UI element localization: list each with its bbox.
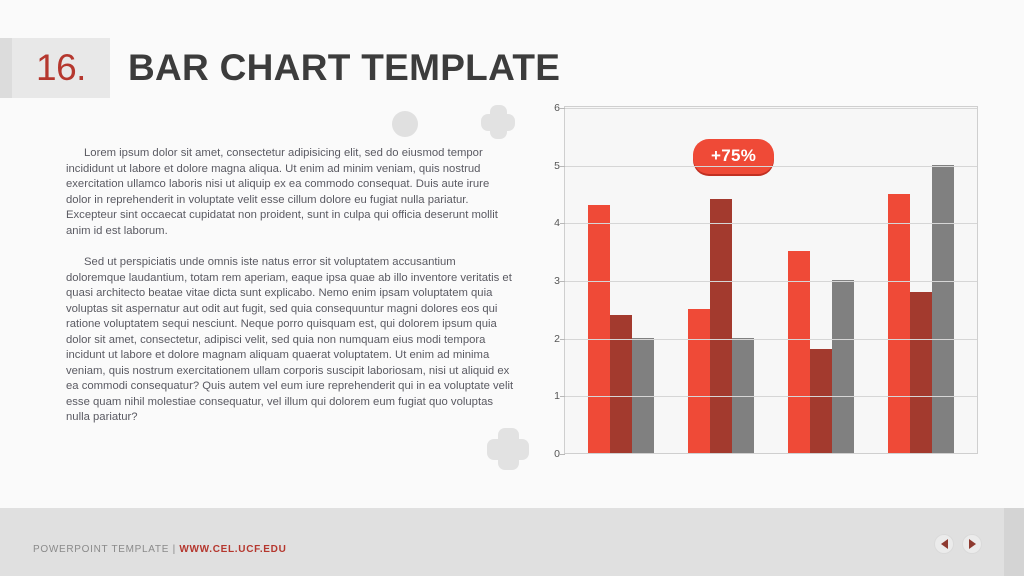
decorative-circle [392,111,418,137]
slide-canvas: 16. BAR CHART TEMPLATE Lorem ipsum dolor… [0,0,1024,576]
y-axis-tick-label: 3 [538,275,560,287]
bar [932,165,954,453]
gridline [565,396,977,397]
bar [810,349,832,453]
slide-title: BAR CHART TEMPLATE [128,47,560,89]
axis-tick-mark [560,166,565,167]
axis-tick-mark [560,281,565,282]
footer-text: POWERPOINT TEMPLATE | WWW.CEL.UCF.EDU [33,544,287,555]
paragraph-2: Sed ut perspiciatis unde omnis iste natu… [66,255,516,426]
triangle-left-icon [941,539,948,549]
gridline [565,339,977,340]
slide-number: 16. [36,47,86,89]
axis-tick-mark [560,223,565,224]
bar [910,292,932,453]
y-axis-tick-label: 4 [538,217,560,229]
y-axis-tick-label: 5 [538,160,560,172]
plot-area: +75% [564,106,978,454]
bar [588,205,610,453]
body-text: Lorem ipsum dolor sit amet, consectetur … [66,146,516,426]
footer-edge-strip [1004,508,1024,576]
decorative-plus-top [481,105,515,139]
status-badge: +75% [693,139,774,174]
bar [710,199,732,453]
bar-group [588,107,654,453]
axis-tick-mark [560,339,565,340]
nav-prev-button[interactable] [934,534,954,554]
gridline [565,281,977,282]
bar [688,309,710,453]
axis-tick-mark [560,396,565,397]
y-axis-tick-label: 6 [538,102,560,114]
y-axis: 0123456 [538,106,560,454]
bar [888,194,910,454]
decorative-plus-bottom [487,428,529,470]
bar [732,338,754,453]
footer-label: POWERPOINT TEMPLATE | [33,544,176,555]
y-axis-tick-label: 0 [538,448,560,460]
axis-tick-mark [560,454,565,455]
footer-bar: POWERPOINT TEMPLATE | WWW.CEL.UCF.EDU [0,508,1024,576]
gridline [565,108,977,109]
y-axis-tick-label: 2 [538,333,560,345]
bar [610,315,632,453]
paragraph-1: Lorem ipsum dolor sit amet, consectetur … [66,146,516,239]
nav-next-button[interactable] [962,534,982,554]
bar-group [788,107,854,453]
bar [632,338,654,453]
bar-chart: 0123456 +75% [538,106,978,468]
bar-group [888,107,954,453]
axis-tick-mark [560,108,565,109]
page-title: 16. BAR CHART TEMPLATE [0,38,560,98]
footer-url[interactable]: WWW.CEL.UCF.EDU [179,544,286,555]
bar [832,280,854,453]
gridline [565,223,977,224]
gridline [565,166,977,167]
triangle-right-icon [969,539,976,549]
y-axis-tick-label: 1 [538,390,560,402]
slide-number-block: 16. [0,38,110,98]
